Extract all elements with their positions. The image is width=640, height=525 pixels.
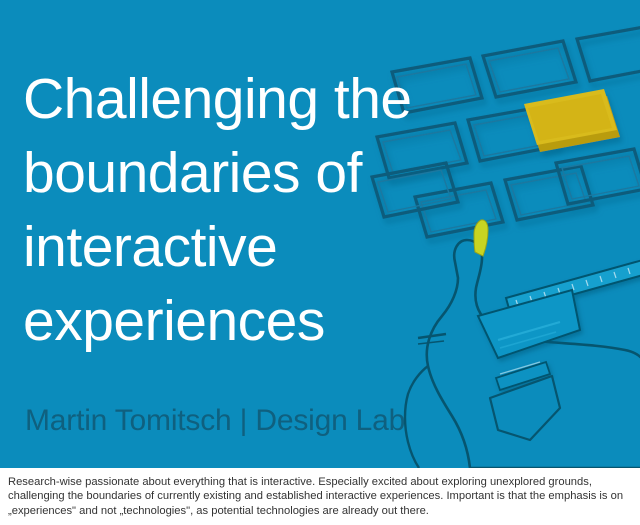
lower-tail-shape xyxy=(490,376,560,440)
hand-silhouette xyxy=(427,240,640,468)
sticky-note-outline xyxy=(577,25,640,81)
title-line-3: interactive xyxy=(23,210,412,284)
title-line-2: boundaries of xyxy=(23,136,412,210)
sticky-note-outline xyxy=(556,149,640,204)
caption-bar: Research-wise passionate about everythin… xyxy=(0,468,640,525)
slide-subtitle-author: Martin Tomitsch | Design Lab xyxy=(25,402,405,440)
sticky-note-outline xyxy=(505,166,593,220)
caption-text: Research-wise passionate about everythin… xyxy=(8,475,632,518)
thumb-contour xyxy=(405,366,428,468)
sticky-note-outline xyxy=(415,183,503,237)
presentation-slide: Challenging the boundaries of interactiv… xyxy=(0,0,640,468)
title-line-4: experiences xyxy=(23,284,412,358)
sticky-note-outline xyxy=(468,106,558,161)
stem-line xyxy=(418,334,446,338)
marker-tip-icon xyxy=(474,220,488,256)
stem-line xyxy=(418,341,444,344)
title-line-1: Challenging the xyxy=(23,62,412,136)
sticky-note-outline xyxy=(483,41,576,97)
hand-with-marker-illustration xyxy=(405,220,640,468)
slide-title: Challenging the boundaries of interactiv… xyxy=(23,62,412,358)
sticky-note-highlight xyxy=(524,89,620,152)
ruler-device xyxy=(478,258,640,390)
sticky-note-grid-lower xyxy=(372,149,640,237)
sticky-note-grid xyxy=(377,25,640,178)
